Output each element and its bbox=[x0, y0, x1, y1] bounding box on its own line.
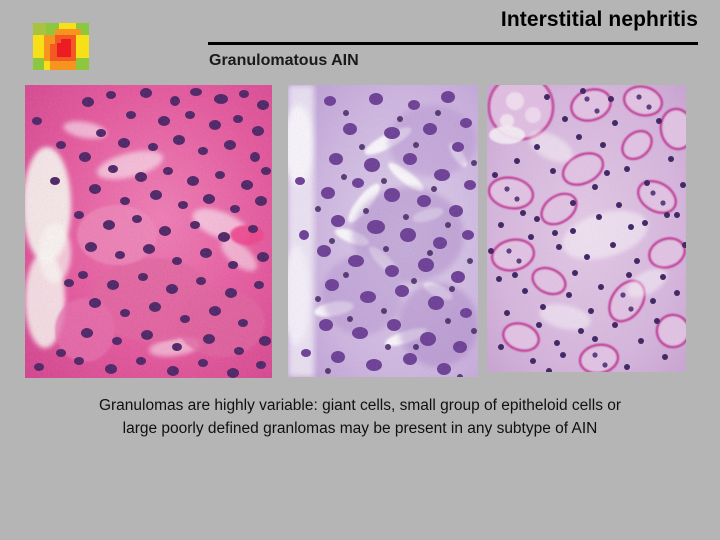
title-underline-rule bbox=[208, 42, 698, 45]
mosaic-logo bbox=[31, 21, 91, 72]
histology-panel-3 bbox=[487, 85, 686, 372]
slide-canvas: Interstitial nephritis Granulomatous AIN bbox=[0, 0, 720, 540]
histology-panel-2 bbox=[288, 85, 478, 377]
slide-title: Interstitial nephritis bbox=[501, 8, 698, 32]
slide-caption: Granulomas are highly variable: giant ce… bbox=[36, 394, 684, 440]
caption-line-1: Granulomas are highly variable: giant ce… bbox=[36, 394, 684, 417]
histology-panel-1 bbox=[25, 85, 272, 378]
caption-line-2: large poorly defined granlomas may be pr… bbox=[36, 417, 684, 440]
slide-subtitle: Granulomatous AIN bbox=[209, 52, 359, 70]
